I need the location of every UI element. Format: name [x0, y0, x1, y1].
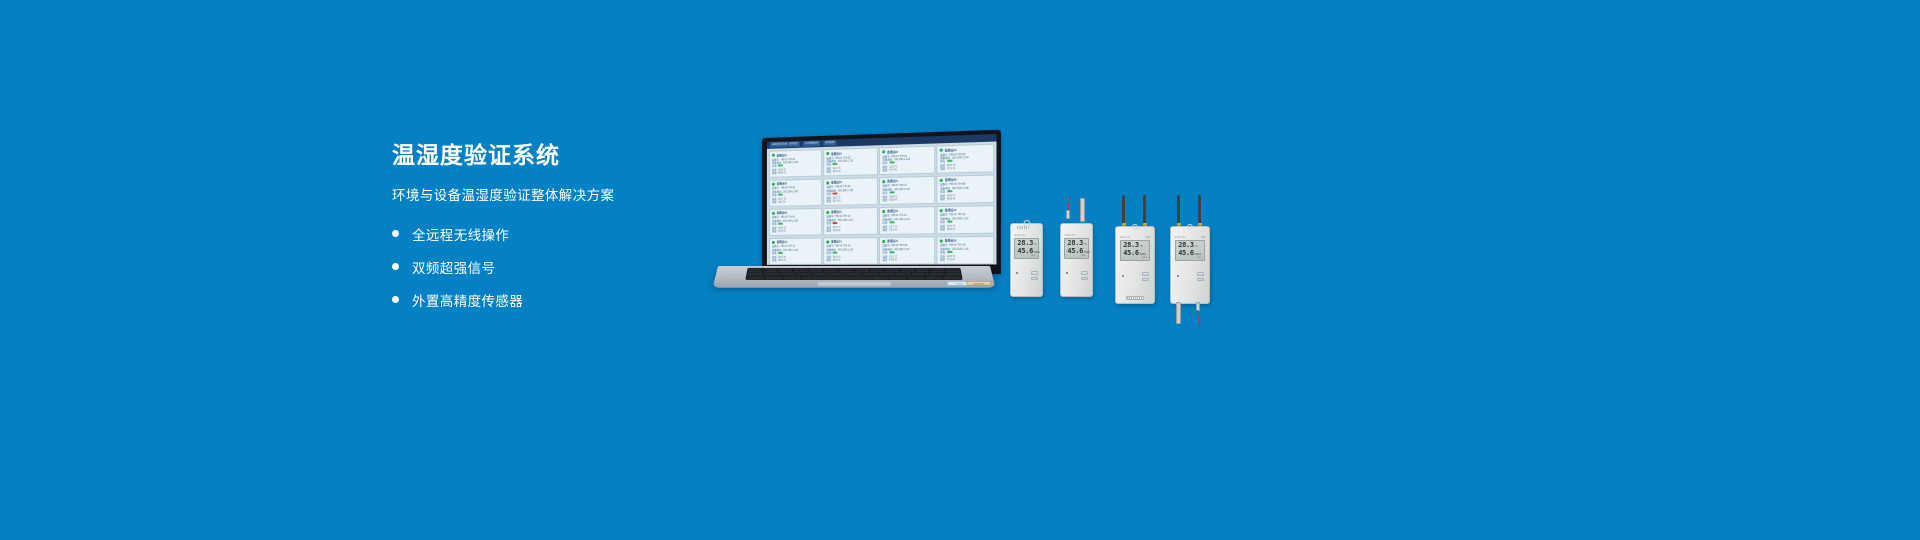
card-title: 监测点08	[945, 178, 957, 182]
card-header: 监测点11	[882, 209, 932, 214]
status-led-icon	[882, 180, 885, 183]
humidity-unit: %RH	[1084, 251, 1090, 254]
field-humidity: 湿度53.8 %	[826, 229, 874, 233]
monitoring-card[interactable]: 监测点01设备号HB-01 T/H-01采集地址192.168.1.101状态温…	[769, 149, 822, 178]
probe-cable	[1197, 310, 1201, 328]
card-fields: 设备号HB-11 T/H-11采集地址192.168.1.111状态温度23.7…	[882, 214, 932, 233]
monitoring-card[interactable]: 监测点16设备号HB-16 T/H-16采集地址192.168.1.116状态温…	[937, 236, 995, 265]
laptop-keyboard[interactable]	[745, 268, 962, 280]
card-fields: 设备号HB-03 T/H-03采集地址192.168.1.103状态温度23.9…	[882, 153, 932, 172]
card-header: 监测点10	[826, 210, 874, 215]
card-fields: 设备号HB-06 T/H-06采集地址192.168.1.106状态温度28.7…	[826, 185, 874, 204]
device-brand-label: ENGIN	[1065, 234, 1075, 237]
bullet-dot-icon	[392, 263, 399, 270]
card-title: 监测点06	[831, 181, 842, 185]
status-badge	[889, 162, 894, 164]
key	[889, 278, 906, 280]
bullet-dot-icon	[392, 296, 399, 303]
card-fields: 设备号HB-09 T/H-09采集地址192.168.1.109状态温度23.5…	[772, 216, 819, 234]
status-badge	[889, 251, 894, 253]
device-button-up[interactable]	[1142, 272, 1149, 276]
temperature-value: 28.3	[1017, 240, 1033, 247]
antenna-left-icon	[1177, 195, 1180, 225]
key	[783, 278, 800, 280]
temperature-value: 28.3	[1178, 242, 1194, 249]
field-humidity: 湿度44.5 %	[882, 259, 932, 263]
field-humidity: 湿度46.0 %	[940, 197, 991, 202]
device-lcd-display: 28.3 °C 45.6 %RH REC	[1120, 240, 1150, 261]
status-badge	[778, 223, 783, 225]
status-led-icon	[882, 210, 885, 213]
temperature-unit: °C	[1195, 245, 1198, 248]
key	[907, 278, 924, 280]
status-badge	[833, 252, 838, 254]
device-wireless-probe: ENGIN HB 28.3 °C 45.6 %RH REC	[1170, 195, 1210, 304]
field-humidity: 湿度46.4 %	[826, 259, 874, 263]
feature-label: 外置高精度传感器	[412, 290, 523, 310]
probe-connector	[1066, 210, 1070, 219]
status-led-icon	[1016, 272, 1018, 274]
key-space	[802, 278, 889, 280]
humidity-unit: %RH	[1195, 253, 1201, 256]
laptop-base: Intel CORE	[713, 266, 996, 288]
status-badge	[889, 222, 894, 224]
monitoring-card[interactable]: 监测点14设备号HB-14 T/H-14采集地址192.168.1.114状态温…	[823, 237, 877, 265]
card-title: 监测点14	[831, 240, 842, 244]
card-fields: 设备号HB-04 T/H-04采集地址192.168.1.104状态温度24.4…	[940, 152, 991, 172]
status-badge	[833, 193, 838, 195]
status-led-icon	[882, 150, 885, 153]
monitoring-card[interactable]: 监测点10设备号HB-10 T/H-10采集地址192.168.1.110状态温…	[823, 207, 877, 236]
device-button-down[interactable]	[1142, 278, 1149, 282]
temperature-value: 28.3	[1067, 240, 1083, 247]
card-fields: 设备号HB-01 T/H-01采集地址192.168.1.101状态温度23.6…	[772, 157, 819, 176]
status-led-icon	[772, 183, 774, 186]
hook-icon	[1132, 224, 1138, 230]
status-badge	[778, 194, 783, 196]
card-title: 监测点09	[776, 211, 787, 215]
card-header: 监测点15	[882, 239, 932, 244]
field-humidity: 湿度46.2 %	[826, 170, 874, 175]
device-button-down[interactable]	[1031, 277, 1038, 281]
card-title: 监测点02	[831, 151, 842, 155]
feature-label: 双频超强信号	[412, 257, 495, 277]
laptop-trackpad[interactable]	[817, 281, 892, 286]
key	[926, 278, 944, 280]
field-humidity: 湿度45.3 %	[882, 228, 932, 232]
device-lcd-display: 28.3 °C 45.6 %RH REC	[1014, 238, 1038, 259]
status-led-icon	[940, 149, 943, 152]
device-buttons[interactable]	[1197, 272, 1204, 281]
card-title: 监测点10	[831, 210, 842, 214]
status-led-icon	[940, 179, 943, 182]
status-led-icon	[772, 241, 774, 244]
field-humidity: 湿度45.5 %	[882, 198, 932, 203]
monitoring-card[interactable]: 监测点11设备号HB-11 T/H-11采集地址192.168.1.111状态温…	[879, 206, 935, 235]
device-button-down[interactable]	[1081, 277, 1088, 281]
status-led-icon	[772, 154, 774, 157]
humidity-probe-icon	[1176, 302, 1181, 324]
card-fields: 设备号HB-05 T/H-05采集地址192.168.1.105状态温度23.2…	[772, 186, 819, 205]
status-led-icon	[1177, 275, 1179, 277]
sensor-device-group: ENGIN 28.3 °C 45.6 %RH REC	[1000, 190, 1220, 315]
card-title: 监测点12	[945, 208, 957, 212]
card-header: 监测点16	[940, 238, 991, 243]
status-led-icon	[826, 211, 829, 214]
card-header: 监测点13	[772, 240, 819, 244]
status-led-icon	[882, 240, 885, 243]
field-humidity: 湿度47.1 %	[940, 166, 991, 171]
status-led-icon	[826, 240, 829, 243]
humidity-unit: %RH	[1140, 253, 1146, 256]
field-humidity: 湿度45.8 %	[772, 171, 819, 176]
status-badge	[947, 251, 952, 253]
lcd-footer-label: REC	[1178, 257, 1202, 259]
device-button-down[interactable]	[1197, 278, 1204, 282]
laptop-lid: 温湿度验证系统 - 实时监控 历史数据查询 报警管理 监测点01设备号HB-01…	[762, 130, 1001, 274]
vent-grill-icon	[1126, 296, 1144, 300]
key	[944, 278, 962, 280]
device-buttons[interactable]	[1081, 271, 1088, 280]
monitoring-card[interactable]: 监测点06设备号HB-06 T/H-06采集地址192.168.1.106状态温…	[823, 177, 877, 206]
product-banner: 温湿度验证系统 环境与设备温湿度验证整体解决方案 全远程无线操作 双频超强信号 …	[0, 0, 1920, 540]
card-fields: 设备号HB-10 T/H-10采集地址192.168.1.110状态温度29.2…	[826, 215, 874, 233]
status-badge	[833, 222, 838, 224]
card-fields: 设备号HB-07 T/H-07采集地址192.168.1.107状态温度23.8…	[882, 184, 932, 203]
card-fields: 设备号HB-13 T/H-13采集地址192.168.1.113状态温度23.4…	[772, 245, 819, 263]
device-lcd-display: 28.3 °C 45.6 %RH REC	[1175, 240, 1205, 261]
humidity-value: 45.6	[1067, 248, 1083, 255]
lcd-footer-label: REC	[1017, 255, 1035, 257]
status-badge	[947, 191, 952, 193]
core-sticker: CORE	[966, 281, 992, 286]
status-led-icon	[940, 209, 943, 212]
status-badge	[778, 165, 783, 167]
tab-history[interactable]: 历史数据查询	[803, 141, 820, 147]
status-badge	[889, 192, 894, 194]
card-header: 监测点14	[826, 239, 874, 243]
temperature-value: 28.3	[1123, 242, 1139, 249]
card-title: 监测点03	[887, 149, 898, 153]
monitoring-card[interactable]: 监测点02设备号HB-02 T/H-02采集地址192.168.1.102状态温…	[823, 147, 877, 177]
device-button-up[interactable]	[1081, 271, 1088, 275]
status-badge	[947, 160, 952, 162]
temperature-unit: °C	[1140, 245, 1143, 248]
key-row	[746, 278, 961, 280]
status-badge	[947, 221, 952, 223]
status-led-icon	[940, 239, 943, 242]
field-humidity: 湿度45.1 %	[772, 259, 819, 263]
device-model-label: HB	[1146, 236, 1150, 239]
monitoring-card[interactable]: 监测点03设备号HB-03 T/H-03采集地址192.168.1.103状态温…	[879, 146, 935, 176]
antenna-right-icon	[1143, 195, 1146, 225]
card-fields: 设备号HB-12 T/H-12采集地址192.168.1.112状态温度24.2…	[940, 213, 991, 232]
status-led-icon	[1066, 272, 1068, 274]
lcd-footer-label: REC	[1067, 255, 1085, 257]
humidity-value: 45.6	[1017, 248, 1033, 255]
humidity-value: 45.6	[1178, 250, 1194, 257]
temperature-unit: °C	[1034, 243, 1037, 246]
monitoring-card-grid: 监测点01设备号HB-01 T/H-01采集地址192.168.1.101状态温…	[767, 142, 997, 265]
laptop-product-image: 温湿度验证系统 - 实时监控 历史数据查询 报警管理 监测点01设备号HB-01…	[718, 138, 990, 300]
device-brand-label: ENGIN	[1120, 236, 1130, 239]
device-wireless-dual-antenna: ENGIN HB 28.3 °C 45.6 %RH REC	[1115, 195, 1155, 304]
device-buttons[interactable]	[1031, 271, 1038, 280]
lcd-footer-label: REC	[1123, 257, 1147, 259]
antenna-right-icon	[1198, 195, 1201, 225]
status-led-icon	[1122, 275, 1124, 277]
field-humidity: 湿度52.3 %	[826, 199, 874, 203]
field-humidity: 湿度47.0 %	[940, 258, 991, 262]
vent-grill-icon	[1017, 226, 1029, 229]
card-fields: 设备号HB-02 T/H-02采集地址192.168.1.102状态温度24.1…	[826, 155, 874, 174]
laptop-screen: 温湿度验证系统 - 实时监控 历史数据查询 报警管理 监测点01设备号HB-01…	[767, 134, 997, 265]
antenna-left-icon	[1122, 195, 1125, 225]
field-humidity: 湿度44.7 %	[882, 168, 932, 173]
bullet-dot-icon	[392, 230, 399, 237]
card-title: 监测点01	[776, 153, 787, 157]
monitoring-card[interactable]: 监测点15设备号HB-15 T/H-15采集地址192.168.1.115状态温…	[879, 236, 935, 265]
device-logger-basic: ENGIN 28.3 °C 45.6 %RH REC	[1010, 223, 1043, 297]
card-title: 监测点07	[887, 179, 898, 183]
monitoring-card[interactable]: 监测点09设备号HB-09 T/H-09采集地址192.168.1.109状态温…	[769, 208, 822, 236]
humidity-unit: %RH	[1034, 251, 1040, 254]
card-title: 监测点11	[887, 209, 898, 213]
status-led-icon	[826, 182, 829, 185]
field-humidity: 湿度46.6 %	[940, 228, 991, 232]
monitoring-card[interactable]: 监测点08设备号HB-08 T/H-08采集地址192.168.1.108状态温…	[937, 174, 995, 204]
card-title: 监测点05	[776, 182, 787, 186]
humidity-probe-icon	[1080, 198, 1085, 222]
status-badge	[833, 163, 838, 165]
device-logger-probe: ENGIN 28.3 °C 45.6 %RH REC	[1060, 212, 1093, 297]
monitoring-card[interactable]: 监测点04设备号HB-04 T/H-04采集地址192.168.1.104状态温…	[937, 144, 995, 174]
tab-alarms[interactable]: 报警管理	[823, 141, 836, 147]
device-model-label: HB	[1201, 236, 1205, 239]
card-title: 监测点13	[776, 240, 787, 244]
status-badge	[778, 252, 783, 254]
field-humidity: 湿度44.9 %	[772, 230, 819, 234]
device-button-up[interactable]	[1197, 272, 1204, 276]
card-title: 监测点15	[887, 239, 898, 243]
device-lcd-display: 28.3 °C 45.6 %RH REC	[1064, 238, 1088, 259]
monitoring-card[interactable]: 监测点07设备号HB-07 T/H-07采集地址192.168.1.107状态温…	[879, 176, 935, 206]
device-brand-label: ENGIN	[1175, 236, 1185, 239]
temperature-unit: °C	[1084, 243, 1087, 246]
monitoring-card[interactable]: 监测点12设备号HB-12 T/H-12采集地址192.168.1.112状态温…	[937, 205, 995, 235]
device-button-up[interactable]	[1031, 271, 1038, 275]
card-header: 监测点12	[940, 208, 991, 213]
card-header: 监测点09	[772, 210, 819, 215]
card-fields: 设备号HB-15 T/H-15采集地址192.168.1.115状态温度23.1…	[882, 244, 932, 262]
device-brand-label: ENGIN	[1015, 234, 1025, 237]
key	[765, 278, 783, 280]
hook-icon	[1187, 224, 1193, 230]
status-led-icon	[826, 152, 829, 155]
card-fields: 设备号HB-14 T/H-14采集地址192.168.1.114状态温度24.3…	[826, 244, 874, 262]
monitoring-card[interactable]: 监测点05设备号HB-05 T/H-05采集地址192.168.1.105状态温…	[769, 178, 822, 207]
monitoring-card[interactable]: 监测点13设备号HB-13 T/H-13采集地址192.168.1.113状态温…	[769, 237, 822, 265]
card-title: 监测点16	[945, 239, 957, 243]
device-buttons[interactable]	[1142, 272, 1149, 281]
card-title: 监测点04	[945, 148, 957, 153]
card-fields: 设备号HB-08 T/H-08采集地址192.168.1.108状态温度24.0…	[940, 182, 991, 201]
tab-realtime[interactable]: 温湿度验证系统 - 实时监控	[770, 142, 800, 148]
key	[746, 278, 764, 280]
card-fields: 设备号HB-16 T/H-16采集地址192.168.1.116状态温度24.5…	[940, 244, 991, 263]
humidity-value: 45.6	[1123, 250, 1139, 257]
field-humidity: 湿度45.0 %	[772, 200, 819, 204]
feature-label: 全远程无线操作	[412, 224, 509, 244]
status-led-icon	[772, 212, 774, 215]
